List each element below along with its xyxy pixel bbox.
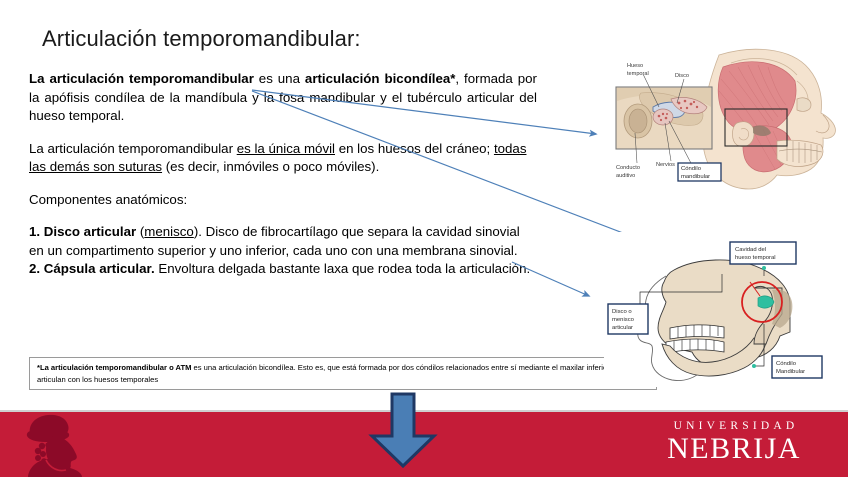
nebrija-wordmark: UNIVERSIDAD NEBRIJA xyxy=(644,420,824,465)
text-segment: en los huesos del cráneo; xyxy=(335,141,494,156)
paragraph-mobility: La articulación temporomandibular es la … xyxy=(29,140,537,177)
skull-tmj-callout-figure: Cavidad del hueso temporal Disco o menis… xyxy=(604,232,848,387)
tmj-lateral-skull-muscle-figure: Hueso temporal Disco Conducto auditivo N… xyxy=(601,41,847,193)
text-segment: Componentes anatómicos: xyxy=(29,192,187,207)
slide-canvas: Articulación temporomandibular: La artic… xyxy=(0,0,848,477)
down-arrow-icon xyxy=(366,392,440,470)
text-segment: es la única móvil xyxy=(237,141,335,156)
text-segment: La articulación temporomandibular xyxy=(29,141,237,156)
text-segment: Envoltura delgada bastante laxa que rode… xyxy=(155,261,531,276)
logo-universidad-text: UNIVERSIDAD xyxy=(648,420,824,432)
label-nervios: Nervios xyxy=(656,162,675,168)
label-disco: Disco xyxy=(675,73,689,79)
text-segment: (es decir, inmóviles o poco móviles). xyxy=(162,159,379,174)
paragraph-capsula-articular: 2. Cápsula articular. Envoltura delgada … xyxy=(29,260,537,279)
paragraph-components-heading: Componentes anatómicos: xyxy=(29,191,537,210)
text-segment: articulación bicondílea* xyxy=(305,71,456,86)
text-segment: 2. Cápsula articular. xyxy=(29,261,155,276)
text-segment: es una xyxy=(254,71,305,86)
label-disco-menisco-articular: Disco o menisco articular xyxy=(612,309,636,331)
body-text-block: La articulación temporomandibular es una… xyxy=(29,70,537,279)
paragraph-definition: La articulación temporomandibular es una… xyxy=(29,70,537,126)
nebrija-crest-portrait-icon xyxy=(20,412,88,477)
text-segment: La articulación temporomandibular xyxy=(29,71,254,86)
footnote-lead: *La articulación temporomandibular o ATM xyxy=(37,363,191,372)
footnote-box: *La articulación temporomandibular o ATM… xyxy=(29,357,657,390)
page-title: Articulación temporomandibular: xyxy=(42,26,361,52)
text-segment: menisco xyxy=(144,224,194,239)
text-segment: 1. Disco articular xyxy=(29,224,136,239)
logo-nebrija-text: NEBRIJA xyxy=(644,433,824,465)
paragraph-disco-articular: 1. Disco articular (menisco). Disco de f… xyxy=(29,223,537,260)
